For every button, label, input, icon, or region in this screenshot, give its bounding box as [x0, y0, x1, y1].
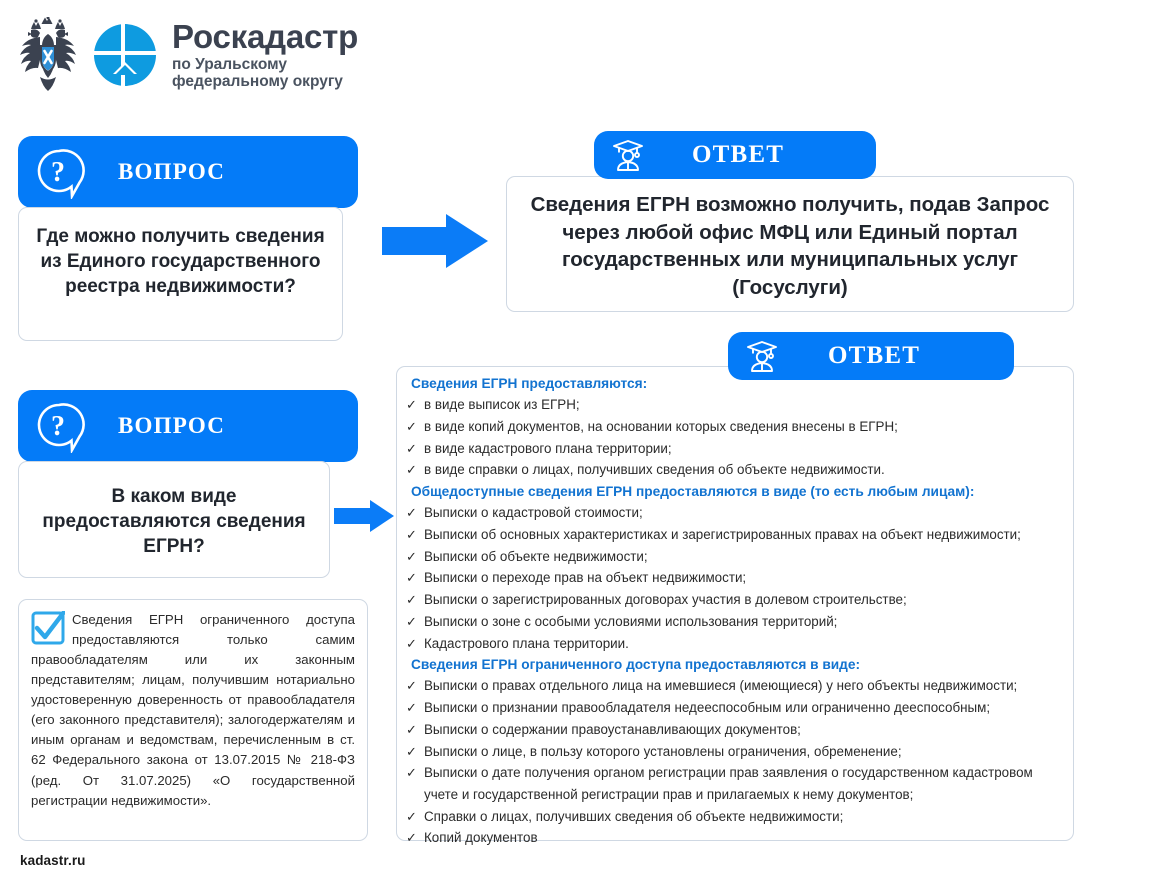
- answer-2-header-label: ОТВЕТ: [828, 342, 920, 370]
- check-mark-icon: ✓: [403, 611, 424, 632]
- list-item-label: Выписки о переходе прав на объект недвиж…: [424, 567, 1063, 589]
- note-text: Сведения ЕГРН ограниченного доступа пред…: [31, 610, 355, 811]
- list-item: ✓Выписки о лице, в пользу которого устан…: [403, 741, 1063, 763]
- list-item-label: Справки о лицах, получивших сведения об …: [424, 806, 1063, 828]
- list-item: ✓Выписки о содержании правоустанавливающ…: [403, 719, 1063, 741]
- answer-1-header: ОТВЕТ: [594, 131, 876, 179]
- list-item: ✓Кадастрового плана территории.: [403, 633, 1063, 655]
- list-item: ✓Выписки о кадастровой стоимости;: [403, 502, 1063, 524]
- check-mark-icon: ✓: [403, 633, 424, 654]
- svg-text:?: ?: [51, 157, 65, 188]
- list-item: ✓Справки о лицах, получивших сведения об…: [403, 806, 1063, 828]
- list-item-label: Выписки о кадастровой стоимости;: [424, 502, 1063, 524]
- list-item: ✓Выписки о правах отдельного лица на име…: [403, 675, 1063, 697]
- list-item: ✓Выписки об объекте недвижимости;: [403, 546, 1063, 568]
- list-item: ✓Копий документов: [403, 827, 1063, 849]
- graduate-person-icon: [744, 338, 780, 374]
- question-1-body: Где можно получить сведения из Единого г…: [18, 207, 343, 341]
- list-item-label: в виде справки о лицах, получивших сведе…: [424, 459, 1063, 481]
- check-mark-icon: ✓: [403, 459, 424, 480]
- question-1-text: Где можно получить сведения из Единого г…: [29, 224, 332, 299]
- list-item-label: Выписки о правах отдельного лица на имев…: [424, 675, 1063, 697]
- check-mark-icon: ✓: [403, 697, 424, 718]
- list-item: ✓Выписки об основных характеристиках и з…: [403, 524, 1063, 546]
- check-mark-icon: ✓: [403, 675, 424, 696]
- check-mark-icon: ✓: [403, 438, 424, 459]
- check-mark-icon: ✓: [403, 827, 424, 848]
- note-body: Сведения ЕГРН ограниченного доступа пред…: [18, 599, 368, 841]
- list-item-label: Выписки о зоне с особыми условиями испол…: [424, 611, 1063, 633]
- question-speech-bubble-icon: ?: [32, 145, 86, 199]
- question-1-header-label: ВОПРОС: [118, 159, 225, 185]
- question-speech-bubble-icon: ?: [32, 399, 86, 453]
- list-item: ✓Выписки о зоне с особыми условиями испо…: [403, 611, 1063, 633]
- check-mark-icon: ✓: [403, 806, 424, 827]
- brand-name: Роскадастр: [172, 20, 358, 53]
- check-mark-icon: ✓: [403, 394, 424, 415]
- list-item: ✓Выписки о зарегистрированных договорах …: [403, 589, 1063, 611]
- arrow-right-icon: [334, 499, 396, 533]
- list-item: ✓в виде справки о лицах, получивших свед…: [403, 459, 1063, 481]
- check-mark-icon: ✓: [403, 567, 424, 588]
- answer-1-text: Сведения ЕГРН возможно получить, подав З…: [519, 191, 1061, 302]
- list-group-heading: Общедоступные сведения ЕГРН предоставляю…: [403, 481, 1063, 502]
- question-2-text: В каком виде предоставляются сведения ЕГ…: [29, 484, 319, 559]
- logo-text: Роскадастр по Уральскому федеральному ок…: [172, 20, 358, 91]
- check-mark-icon: ✓: [403, 524, 424, 545]
- answer-2-list: Сведения ЕГРН предоставляются:✓в виде вы…: [403, 373, 1063, 849]
- list-group-heading-label: Сведения ЕГРН предоставляются:: [403, 373, 647, 394]
- check-mark-icon: ✓: [403, 719, 424, 740]
- question-1-header: ? ВОПРОС: [18, 136, 358, 208]
- list-item-label: в виде выписок из ЕГРН;: [424, 394, 1063, 416]
- list-item-label: Выписки о содержании правоустанавливающи…: [424, 719, 1063, 741]
- list-item: ✓Выписки о признании правообладателя нед…: [403, 697, 1063, 719]
- list-item-label: Выписки о признании правообладателя неде…: [424, 697, 1063, 719]
- list-group-heading-label: Общедоступные сведения ЕГРН предоставляю…: [403, 481, 974, 502]
- brand-subtitle-line-2: федеральному округу: [172, 73, 358, 90]
- svg-text:?: ?: [51, 411, 65, 442]
- check-mark-icon: ✓: [403, 589, 424, 610]
- double-headed-eagle-emblem-icon: [18, 17, 78, 93]
- answer-1-body: Сведения ЕГРН возможно получить, подав З…: [506, 176, 1074, 312]
- check-mark-icon: ✓: [403, 502, 424, 523]
- logo-area: Роскадастр по Уральскому федеральному ок…: [18, 14, 358, 96]
- arrow-right-icon: [382, 212, 490, 270]
- list-item-label: Копий документов: [424, 827, 1063, 849]
- list-item: ✓в виде выписок из ЕГРН;: [403, 394, 1063, 416]
- answer-2-header: ОТВЕТ: [728, 332, 1014, 380]
- checkbox-checked-icon: [31, 611, 65, 645]
- list-item-label: Выписки о зарегистрированных договорах у…: [424, 589, 1063, 611]
- list-item: ✓в виде кадастрового плана территории;: [403, 438, 1063, 460]
- list-item-label: Кадастрового плана территории.: [424, 633, 1063, 655]
- check-mark-icon: ✓: [403, 416, 424, 437]
- answer-2-body: Сведения ЕГРН предоставляются:✓в виде вы…: [396, 366, 1074, 841]
- question-2-body: В каком виде предоставляются сведения ЕГ…: [18, 461, 330, 578]
- check-mark-icon: ✓: [403, 762, 424, 783]
- question-2-header-label: ВОПРОС: [118, 413, 225, 439]
- answer-1-header-label: ОТВЕТ: [692, 141, 784, 169]
- list-group-heading: Сведения ЕГРН ограниченного доступа пред…: [403, 654, 1063, 675]
- graduate-person-icon: [610, 137, 646, 173]
- list-item: ✓Выписки о переходе прав на объект недви…: [403, 567, 1063, 589]
- footer-site-label: kadastr.ru: [20, 853, 86, 868]
- list-group-heading-label: Сведения ЕГРН ограниченного доступа пред…: [403, 654, 860, 675]
- list-item: ✓в виде копий документов, на основании к…: [403, 416, 1063, 438]
- list-item-label: в виде кадастрового плана территории;: [424, 438, 1063, 460]
- list-item-label: Выписки о лице, в пользу которого устано…: [424, 741, 1063, 763]
- check-mark-icon: ✓: [403, 741, 424, 762]
- check-mark-icon: ✓: [403, 546, 424, 567]
- list-item-label: Выписки об объекте недвижимости;: [424, 546, 1063, 568]
- list-item-label: Выписки о дате получения органом регистр…: [424, 762, 1063, 805]
- question-2-header: ? ВОПРОС: [18, 390, 358, 462]
- list-item: ✓Выписки о дате получения органом регист…: [403, 762, 1063, 805]
- list-item-label: в виде копий документов, на основании ко…: [424, 416, 1063, 438]
- brand-subtitle-line-1: по Уральскому: [172, 56, 358, 73]
- list-item-label: Выписки об основных характеристиках и за…: [424, 524, 1063, 546]
- roskadastr-window-mark-icon: [92, 22, 158, 88]
